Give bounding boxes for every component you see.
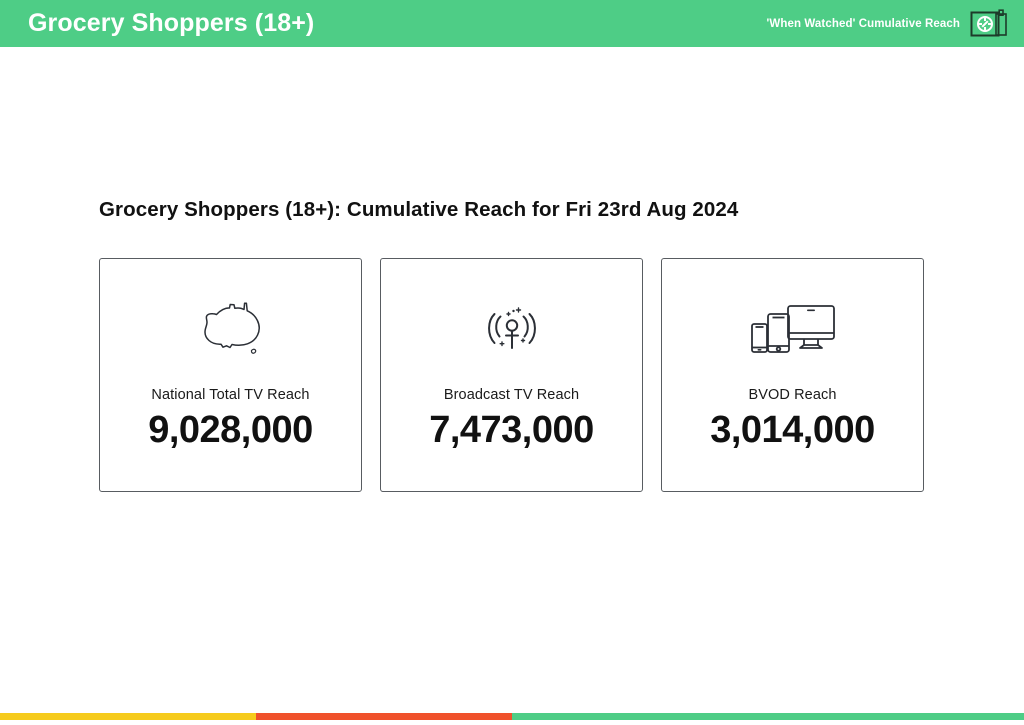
devices-icon bbox=[747, 300, 839, 367]
footer-color-bar bbox=[0, 713, 1024, 720]
broadcast-antenna-icon bbox=[481, 300, 543, 367]
report-subtitle: 'When Watched' Cumulative Reach bbox=[767, 18, 960, 30]
metric-card[interactable]: National Total TV Reach 9,028,000 bbox=[99, 258, 362, 492]
report-title: Grocery Shoppers (18+): Cumulative Reach… bbox=[99, 198, 738, 222]
footer-segment-green bbox=[512, 713, 1024, 720]
metric-value: 9,028,000 bbox=[148, 411, 313, 451]
metric-card[interactable]: Broadcast TV Reach 7,473,000 bbox=[380, 258, 643, 492]
metric-value: 7,473,000 bbox=[429, 411, 594, 451]
metric-label: BVOD Reach bbox=[748, 387, 836, 403]
footer-segment-red bbox=[256, 713, 512, 720]
australia-map-icon bbox=[196, 300, 266, 367]
app-header: Grocery Shoppers (18+) 'When Watched' Cu… bbox=[0, 0, 1024, 47]
metric-card[interactable]: BVOD Reach 3,014,000 bbox=[661, 258, 924, 492]
card-icon-slot bbox=[747, 293, 839, 373]
header-right-group: 'When Watched' Cumulative Reach bbox=[767, 8, 1010, 40]
metric-label: National Total TV Reach bbox=[151, 387, 309, 403]
page-heading: Grocery Shoppers (18+) bbox=[28, 11, 314, 36]
main-content: Grocery Shoppers (18+): Cumulative Reach… bbox=[0, 47, 1024, 713]
metric-cards-row: National Total TV Reach 9,028,000 bbox=[99, 258, 924, 492]
metric-value: 3,014,000 bbox=[710, 411, 875, 451]
metric-label: Broadcast TV Reach bbox=[444, 387, 579, 403]
card-icon-slot bbox=[481, 293, 543, 373]
card-icon-slot bbox=[196, 293, 266, 373]
footer-segment-yellow bbox=[0, 713, 256, 720]
target-device-logo-icon bbox=[970, 8, 1010, 40]
